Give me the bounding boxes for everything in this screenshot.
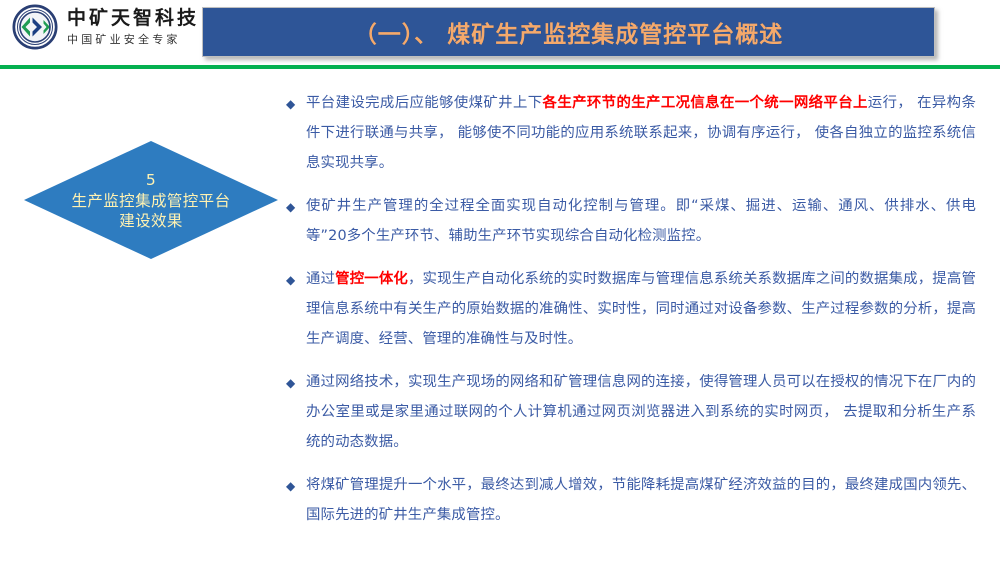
bullet-text: 使矿井生产管理的全过程全面实现自动化控制与管理。即“采煤、掘进、运输、通风、供排… bbox=[306, 191, 976, 251]
company-name: 中矿天智科技 bbox=[67, 9, 199, 28]
slide-canvas: 中矿天智科技 中国矿业安全专家 （一）、 煤矿生产监控集成管控平台概述 5 生产… bbox=[0, 0, 1000, 563]
bullet-text-segment: 通过网络技术，实现生产现场的网络和矿管理信息网的连接，使得管理人员可以在授权的情… bbox=[306, 374, 976, 450]
bullet-diamond-icon: ◆ bbox=[286, 88, 306, 119]
bullet-text: 将煤矿管理提升一个水平，最终达到减人增效，节能降耗提高煤矿经济效益的目的，最终建… bbox=[306, 470, 976, 530]
slide-title-bar: （一）、 煤矿生产监控集成管控平台概述 bbox=[202, 7, 935, 57]
bullet-diamond-icon: ◆ bbox=[286, 264, 306, 295]
bullet-item: ◆将煤矿管理提升一个水平，最终达到减人增效，节能降耗提高煤矿经济效益的目的，最终… bbox=[286, 470, 976, 530]
diamond-label: 5 生产监控集成管控平台 建设效果 bbox=[24, 141, 278, 259]
section-diamond-callout: 5 生产监控集成管控平台 建设效果 bbox=[24, 141, 278, 259]
bullet-diamond-icon: ◆ bbox=[286, 191, 306, 222]
bullet-diamond-icon: ◆ bbox=[286, 470, 306, 501]
bullet-text: 通过管控一体化，实现生产自动化系统的实时数据库与管理信息系统关系数据库之间的数据… bbox=[306, 264, 976, 354]
bullet-text-segment: 平台建设完成后应能够使煤矿井上下 bbox=[306, 95, 543, 111]
header-divider bbox=[0, 65, 1000, 69]
bullet-item: ◆通过网络技术，实现生产现场的网络和矿管理信息网的连接，使得管理人员可以在授权的… bbox=[286, 367, 976, 457]
bullet-list: ◆平台建设完成后应能够使煤矿井上下各生产环节的生产工况信息在一个统一网络平台上运… bbox=[286, 88, 976, 543]
bullet-diamond-icon: ◆ bbox=[286, 367, 306, 398]
diamond-line-2: 建设效果 bbox=[119, 211, 183, 231]
page-title: （一）、 煤矿生产监控集成管控平台概述 bbox=[354, 15, 784, 49]
brand-block: 中矿天智科技 中国矿业安全专家 bbox=[12, 4, 199, 50]
diamond-line-1: 生产监控集成管控平台 bbox=[71, 191, 230, 211]
bullet-item: ◆平台建设完成后应能够使煤矿井上下各生产环节的生产工况信息在一个统一网络平台上运… bbox=[286, 88, 976, 178]
brand-text-block: 中矿天智科技 中国矿业安全专家 bbox=[67, 9, 199, 45]
bullet-text-highlight: 管控一体化 bbox=[335, 271, 408, 287]
company-emblem-icon bbox=[12, 4, 58, 50]
bullet-text: 平台建设完成后应能够使煤矿井上下各生产环节的生产工况信息在一个统一网络平台上运行… bbox=[306, 88, 976, 178]
bullet-text: 通过网络技术，实现生产现场的网络和矿管理信息网的连接，使得管理人员可以在授权的情… bbox=[306, 367, 976, 457]
bullet-item: ◆通过管控一体化，实现生产自动化系统的实时数据库与管理信息系统关系数据库之间的数… bbox=[286, 264, 976, 354]
bullet-text-highlight: 各生产环节的生产工况信息在一个统一网络平台上 bbox=[543, 95, 868, 111]
company-tagline: 中国矿业安全专家 bbox=[67, 34, 199, 45]
bullet-item: ◆使矿井生产管理的全过程全面实现自动化控制与管理。即“采煤、掘进、运输、通风、供… bbox=[286, 191, 976, 251]
diamond-number: 5 bbox=[146, 170, 156, 190]
bullet-text-segment: 使矿井生产管理的全过程全面实现自动化控制与管理。即“采煤、掘进、运输、通风、供排… bbox=[306, 198, 976, 244]
bullet-text-segment: 将煤矿管理提升一个水平，最终达到减人增效，节能降耗提高煤矿经济效益的目的，最终建… bbox=[306, 477, 976, 523]
bullet-text-segment: 通过 bbox=[306, 271, 335, 287]
